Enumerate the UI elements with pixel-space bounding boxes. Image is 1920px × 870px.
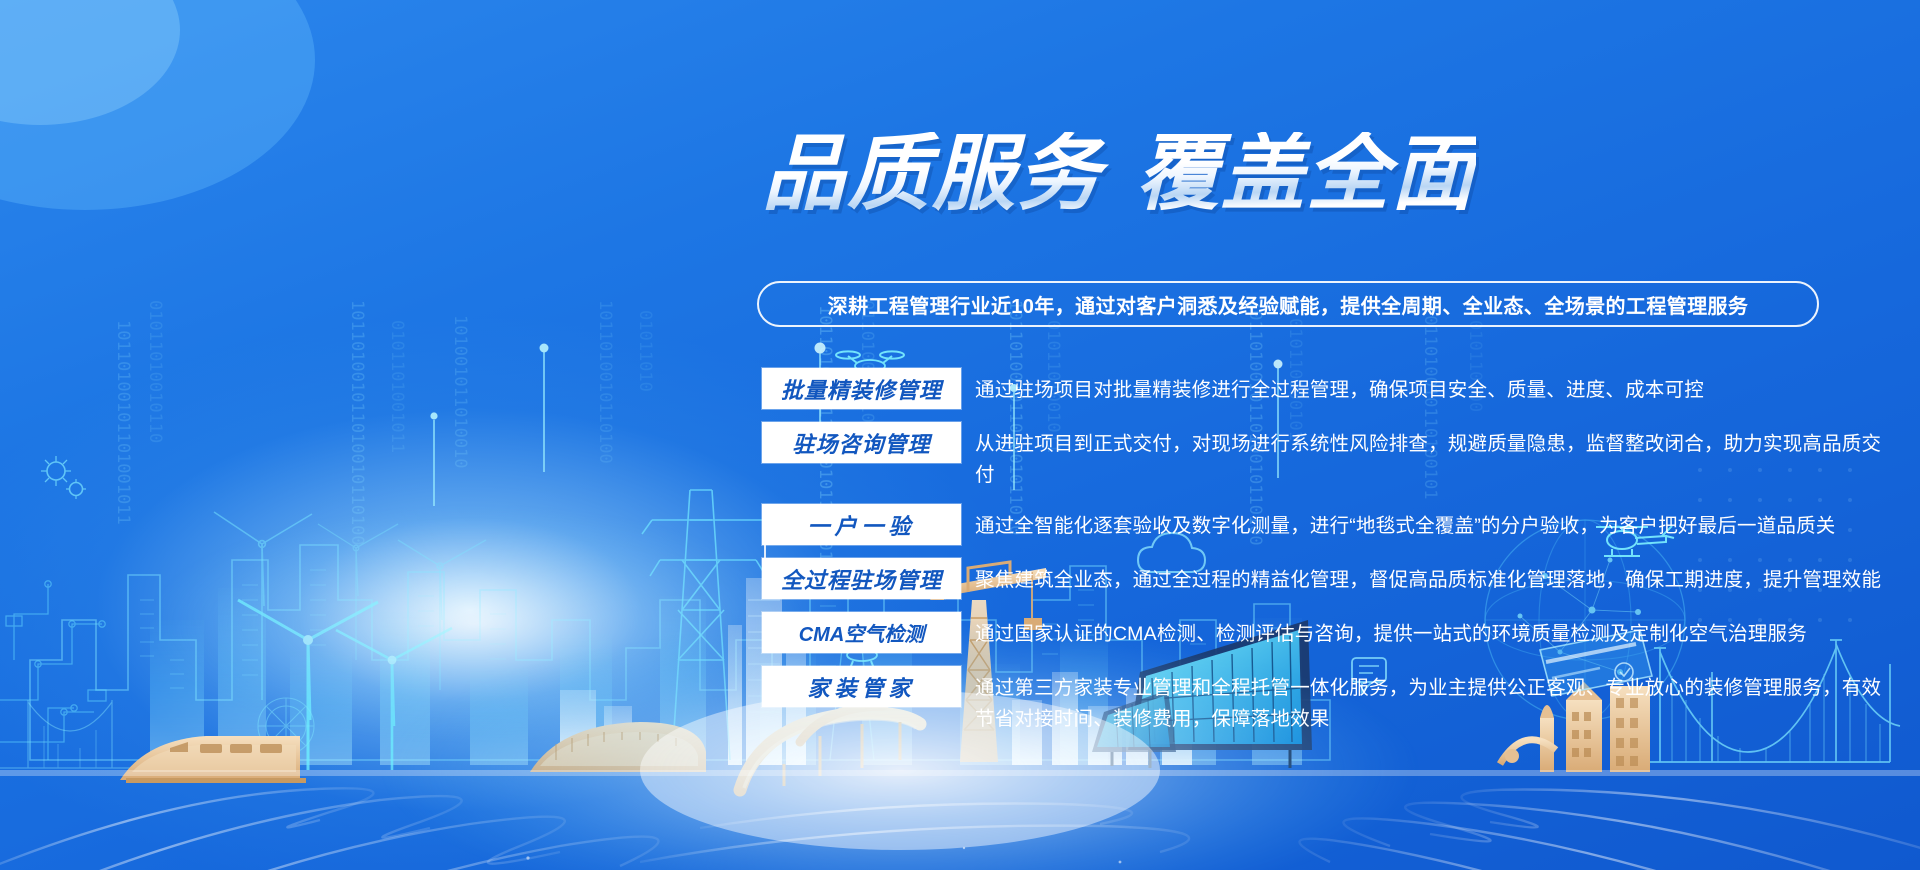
- banner-content: 品质服务覆盖全面 深耕工程管理行业近10年，通过对客户洞悉及经验赋能，提供全周期…: [0, 0, 1920, 870]
- title-part-1: 品质服务: [762, 127, 1102, 220]
- title-part-2: 覆盖全面: [1136, 127, 1476, 220]
- service-badge[interactable]: 一户一验: [762, 504, 961, 545]
- service-label: 一户一验: [807, 509, 915, 541]
- list-item[interactable]: CMA空气检测 通过国家认证的CMA检测、检测评估与咨询，提供一站式的环境质量检…: [762, 612, 1882, 653]
- service-description: 通过全智能化逐套验收及数字化测量，进行“地毯式全覆盖”的分户验收，为客户把好最后…: [975, 504, 1836, 542]
- list-item[interactable]: 家装管家 通过第三方家装专业管理和全程托管一体化服务，为业主提供公正客观、专业放…: [762, 666, 1882, 735]
- page-title: 品质服务覆盖全面: [762, 132, 1476, 215]
- list-item[interactable]: 全过程驻场管理 聚焦建筑全业态，通过全过程的精益化管理，督促高品质标准化管理落地…: [762, 558, 1882, 599]
- list-item[interactable]: 批量精装修管理 通过驻场项目对批量精装修进行全过程管理，确保项目安全、质量、进度…: [762, 368, 1882, 409]
- service-badge[interactable]: 全过程驻场管理: [762, 558, 961, 599]
- service-badge[interactable]: 批量精装修管理: [762, 368, 961, 409]
- subtitle-pill: 深耕工程管理行业近10年，通过对客户洞悉及经验赋能，提供全周期、全业态、全场景的…: [757, 281, 1819, 327]
- service-label: 全过程驻场管理: [781, 563, 942, 595]
- service-label: CMA空气检测: [799, 618, 925, 647]
- service-label: 家装管家: [807, 671, 915, 703]
- service-badge[interactable]: CMA空气检测: [762, 612, 961, 653]
- service-description: 聚焦建筑全业态，通过全过程的精益化管理，督促高品质标准化管理落地，确保工期进度，…: [975, 558, 1881, 596]
- subtitle-text: 深耕工程管理行业近10年，通过对客户洞悉及经验赋能，提供全周期、全业态、全场景的…: [828, 290, 1749, 319]
- service-label: 批量精装修管理: [781, 373, 942, 405]
- list-item[interactable]: 驻场咨询管理 从进驻项目到正式交付，对现场进行系统性风险排查，规避质量隐患，监督…: [762, 422, 1882, 491]
- service-description: 通过驻场项目对批量精装修进行全过程管理，确保项目安全、质量、进度、成本可控: [975, 368, 1704, 406]
- service-list: 批量精装修管理 通过驻场项目对批量精装修进行全过程管理，确保项目安全、质量、进度…: [762, 368, 1882, 735]
- service-badge[interactable]: 家装管家: [762, 666, 961, 707]
- list-item[interactable]: 一户一验 通过全智能化逐套验收及数字化测量，进行“地毯式全覆盖”的分户验收，为客…: [762, 504, 1882, 545]
- promotional-banner: 10110100101101001011 01011010010110 1011…: [0, 0, 1920, 870]
- service-badge[interactable]: 驻场咨询管理: [762, 422, 961, 463]
- service-label: 驻场咨询管理: [792, 427, 930, 459]
- service-description: 通过第三方家装专业管理和全程托管一体化服务，为业主提供公正客观、专业放心的装修管…: [975, 666, 1882, 735]
- service-description: 从进驻项目到正式交付，对现场进行系统性风险排查，规避质量隐患，监督整改闭合，助力…: [975, 422, 1882, 491]
- service-description: 通过国家认证的CMA检测、检测评估与咨询，提供一站式的环境质量检测及定制化空气治…: [975, 612, 1807, 650]
